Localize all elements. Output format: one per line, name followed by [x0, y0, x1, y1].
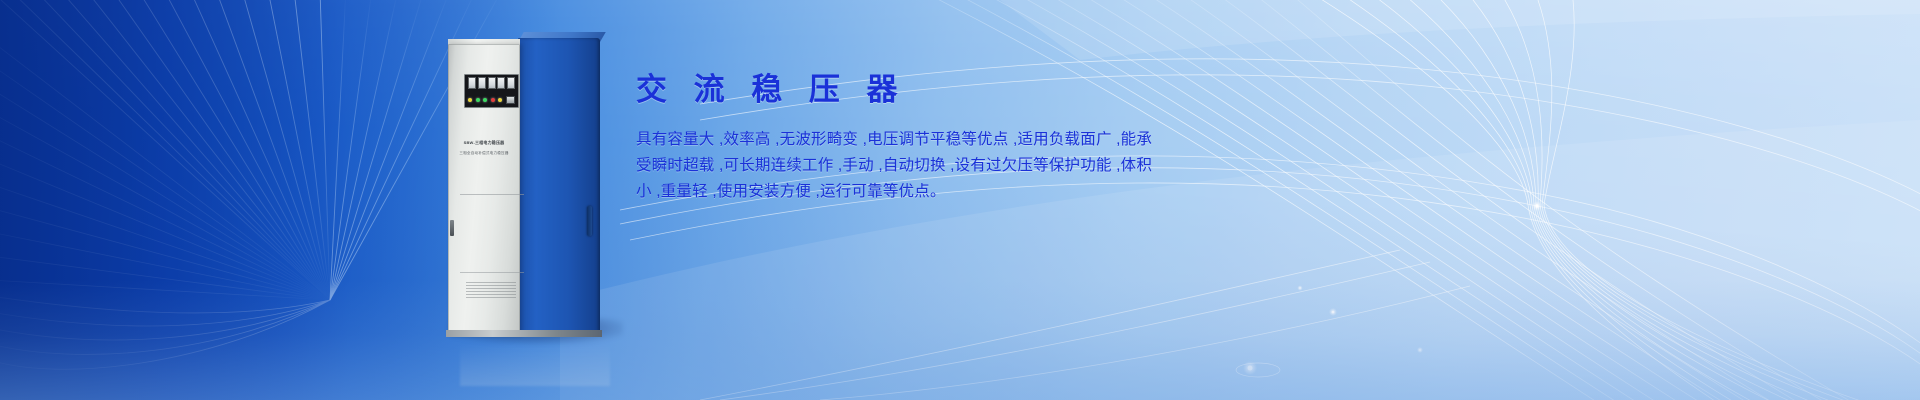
- product-image: SBW-三相电力稳压器 三相全自动补偿式电力稳压器: [440, 38, 630, 338]
- cabinet-side-panel: [518, 38, 600, 334]
- indicator-lamp-red: [491, 98, 495, 102]
- indicator-lamp-yellow: [498, 98, 502, 102]
- indicator-lamp-green: [483, 98, 487, 102]
- analog-meter: [478, 77, 486, 89]
- cabinet-description-label: 三相全自动补偿式电力稳压器: [448, 151, 520, 156]
- door-seam: [460, 272, 524, 273]
- analog-meter: [468, 77, 476, 89]
- indicator-lamp-yellow: [468, 98, 472, 102]
- indicator-lamp-row: [467, 96, 516, 105]
- cabinet-base: [446, 330, 602, 337]
- cabinet-reflection: [460, 336, 610, 386]
- banner-copy: 交 流 稳 压 器 具有容量大 ,效率高 ,无波形畸变 ,电压调节平稳等优点 ,…: [636, 74, 1196, 205]
- analog-meter: [488, 77, 496, 89]
- background-floor-glow: [0, 280, 1920, 400]
- indicator-lamp-green: [476, 98, 480, 102]
- banner-description: 具有容量大 ,效率高 ,无波形畸变 ,电压调节平稳等优点 ,适用负载面广 ,能承…: [636, 127, 1156, 205]
- banner-headline: 交 流 稳 压 器: [636, 74, 1196, 105]
- door-seam: [460, 194, 524, 195]
- cabinet-side-handle: [587, 206, 592, 236]
- cabinet-front-handle: [450, 220, 454, 236]
- meter-row: [467, 77, 516, 89]
- product-banner: SBW-三相电力稳压器 三相全自动补偿式电力稳压器 交 流 稳 压 器 具有容量…: [0, 0, 1920, 400]
- analog-meter: [497, 77, 505, 89]
- ventilation-grille: [466, 280, 516, 298]
- analog-meter: [507, 77, 515, 89]
- selector-knob: [506, 96, 515, 104]
- cabinet-model-label: SBW-三相电力稳压器: [448, 140, 520, 146]
- control-panel: [464, 74, 519, 108]
- cabinet-front-door: SBW-三相电力稳压器 三相全自动补偿式电力稳压器: [448, 44, 520, 336]
